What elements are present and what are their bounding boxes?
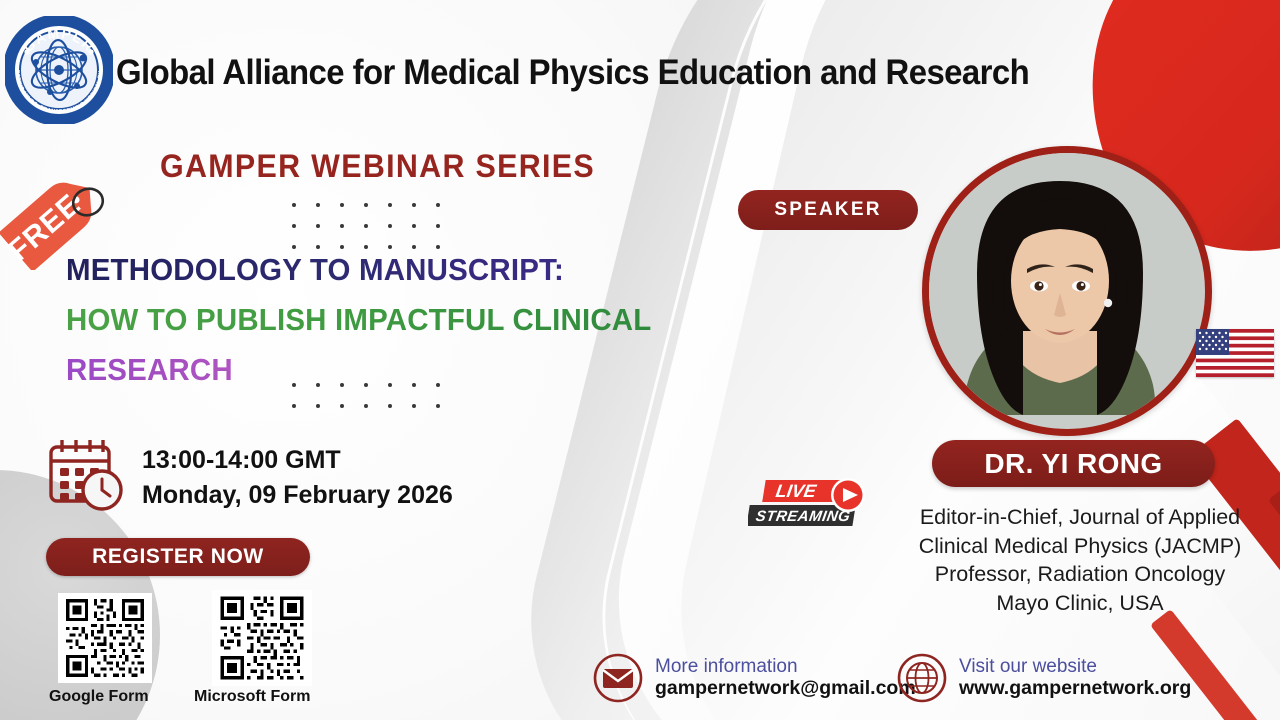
credential-line: Editor-in-Chief, Journal of Applied [880,503,1280,532]
organization-title: Global Alliance for Medical Physics Educ… [116,55,1075,90]
qr-code-microsoft-form[interactable] [212,590,312,686]
live-text: LIVE [774,481,818,501]
contact-website[interactable]: Visit our website www.gampernetwork.org [896,652,1191,704]
contact-email[interactable]: More information gampernetwork@gmail.com [592,652,916,704]
speaker-credentials: Editor-in-Chief, Journal of Applied Clin… [880,503,1280,617]
webinar-title-line-2: HOW TO PUBLISH IMPACTFUL CLINICAL [66,304,651,335]
speaker-photo [922,146,1212,436]
dot-pattern-bottom [292,383,440,408]
webinar-date: Monday, 09 February 2026 [142,478,453,513]
live-streaming-badge: LIVE STREAMING [748,478,878,532]
webinar-poster: GAMPER CONNECTING MINDS, TRANSFORMING ME… [0,0,1280,720]
webinar-series-heading: GAMPER WEBINAR SERIES [160,148,595,185]
gamper-logo: GAMPER CONNECTING MINDS, TRANSFORMING ME… [5,16,113,124]
webinar-title-line-1: METHODOLOGY TO MANUSCRIPT: [66,254,564,285]
contact-website-value[interactable]: www.gampernetwork.org [959,678,1191,700]
credential-line: Clinical Medical Physics (JACMP) [880,532,1280,561]
qr-code-google-form[interactable] [58,593,152,683]
webinar-datetime: 13:00-14:00 GMT Monday, 09 February 2026 [142,443,453,512]
usa-flag-icon [1196,329,1274,377]
globe-icon [896,652,948,704]
contact-email-label: More information [655,656,916,677]
dot-pattern-top [292,203,440,249]
speaker-badge: SPEAKER [738,190,918,230]
credential-line: Professor, Radiation Oncology [880,560,1280,589]
envelope-icon [592,652,644,704]
calendar-clock-icon [45,437,131,513]
qr-label-google-form: Google Form [49,688,149,706]
contact-website-label: Visit our website [959,656,1191,677]
speaker-name-badge: DR. YI RONG [932,440,1215,487]
streaming-text: STREAMING [755,508,852,525]
qr-label-microsoft-form: Microsoft Form [194,688,310,706]
credential-line: Mayo Clinic, USA [880,589,1280,618]
contact-email-value[interactable]: gampernetwork@gmail.com [655,678,916,700]
register-now-button[interactable]: REGISTER NOW [46,538,310,576]
webinar-time: 13:00-14:00 GMT [142,443,453,478]
webinar-title-line-3: RESEARCH [66,354,233,385]
